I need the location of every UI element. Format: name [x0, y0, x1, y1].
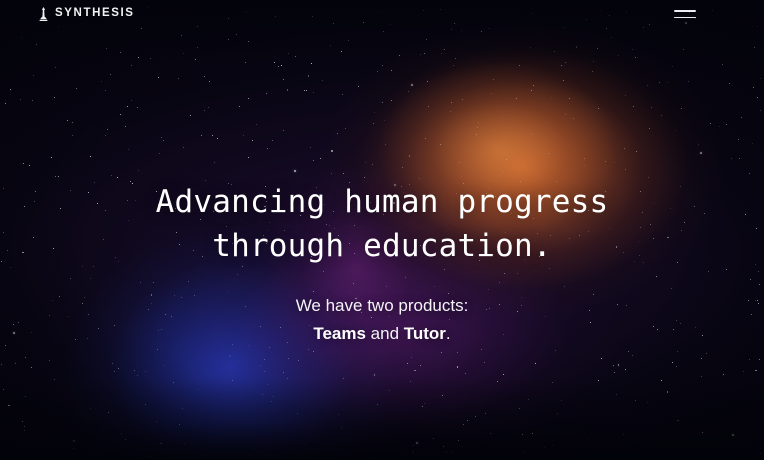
menu-bar-bottom	[674, 17, 696, 19]
background-purple-glow	[0, 0, 764, 460]
background-bottom-fade	[0, 0, 764, 460]
hero-headline: Advancing human progress through educati…	[156, 180, 609, 268]
background-vignette	[0, 0, 764, 460]
background-top-fade	[0, 0, 764, 460]
hero-section: Advancing human progress through educati…	[0, 0, 764, 460]
background-magenta-glow	[0, 0, 764, 460]
hero-subheadline: We have two products: Teams and Tutor.	[296, 292, 469, 347]
background-orange-glow	[0, 0, 764, 460]
subhead-line-1: We have two products:	[296, 296, 469, 315]
logo-link[interactable]: SYNTHESIS	[38, 7, 135, 21]
subhead-conjunction: and	[366, 324, 404, 343]
subhead-line-2: Teams and Tutor.	[296, 320, 469, 348]
menu-bar-top	[674, 10, 696, 12]
logo-text: SYNTHESIS	[55, 8, 135, 20]
starfield	[0, 0, 764, 460]
background-blue-glow	[0, 0, 764, 460]
page-root: SYNTHESIS Advancing human progress throu…	[0, 0, 764, 460]
subhead-period: .	[446, 324, 451, 343]
product-name-teams: Teams	[313, 324, 366, 343]
hamburger-menu-icon[interactable]	[674, 6, 696, 22]
product-name-tutor: Tutor	[404, 324, 446, 343]
background-orange-core-glow	[0, 0, 764, 460]
background-base-glow	[0, 0, 764, 460]
site-header: SYNTHESIS	[0, 0, 764, 28]
synthesis-obelisk-icon	[38, 7, 49, 21]
